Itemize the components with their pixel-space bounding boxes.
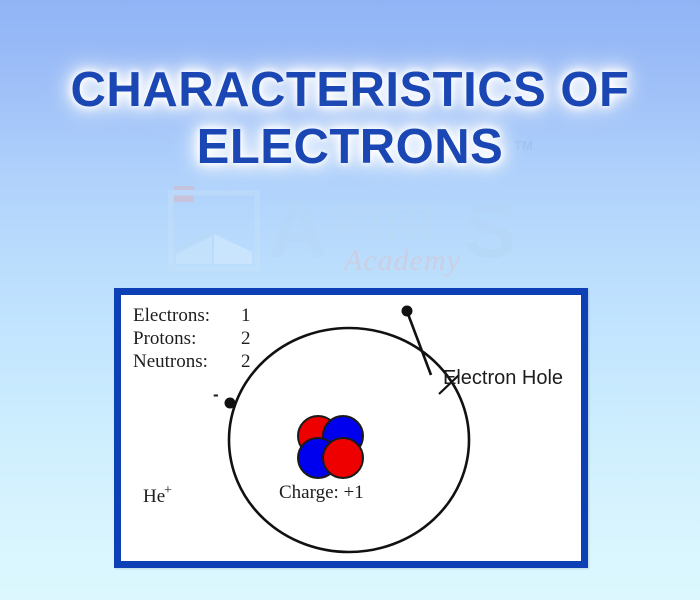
- atom-diagram-frame: Electrons: 1 Protons: 2 Neutrons: 2 - El…: [114, 288, 588, 568]
- electron-hole-label: Electron Hole: [443, 367, 563, 389]
- electron-negative-sign: -: [213, 385, 219, 404]
- nucleus-charge-label: Charge: +1: [279, 482, 364, 503]
- open-book-icon: [168, 190, 260, 272]
- stat-label-neutrons: Neutrons:: [133, 351, 208, 372]
- element-symbol: He: [143, 486, 165, 507]
- slide-canvas: A भ्यास S Academy TM CHARACTERISTICS OF …: [0, 0, 700, 600]
- watermark-letter-s: S: [464, 190, 516, 270]
- atom-diagram: Electrons: 1 Protons: 2 Neutrons: 2 - El…: [121, 295, 581, 561]
- page-title: CHARACTERISTICS OF ELECTRONS: [0, 62, 700, 176]
- stat-label-electrons: Electrons:: [133, 305, 210, 326]
- watermark-logo: A भ्यास S Academy TM: [168, 186, 548, 282]
- watermark-academy-script: Academy: [344, 244, 461, 278]
- stat-value-protons: 2: [241, 328, 251, 349]
- electron-particle: [225, 398, 236, 409]
- stat-value-electrons: 1: [241, 305, 251, 326]
- title-line-2: ELECTRONS: [0, 119, 700, 176]
- trademark-icon: TM: [514, 138, 533, 153]
- watermark-letter-a: A: [268, 188, 328, 274]
- element-charge-superscript: +: [164, 483, 172, 498]
- proton-bottom-right: [323, 438, 363, 478]
- watermark-red-accent: [174, 186, 194, 202]
- title-line-1: CHARACTERISTICS OF: [0, 62, 700, 119]
- stat-label-protons: Protons:: [133, 328, 196, 349]
- stat-value-neutrons: 2: [241, 351, 251, 372]
- watermark-devanagari: भ्यास: [326, 192, 435, 252]
